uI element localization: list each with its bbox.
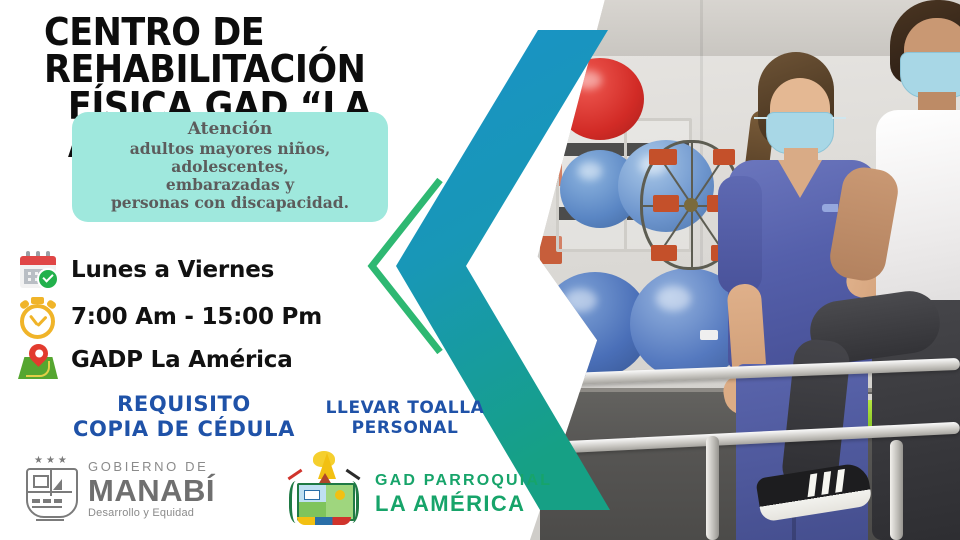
title-line-1: CENTRO DE REHABILITACIÓN [44, 10, 365, 91]
gad-parroquial-la-america-logo: GAD PARROQUIAL LA AMÉRICA [285, 455, 552, 533]
towel-line-2: PERSONAL [310, 418, 500, 438]
gad-logo-text: GAD PARROQUIAL LA AMÉRICA [375, 472, 552, 515]
info-label-days: Lunes a Viernes [71, 257, 274, 283]
wheel-pad [651, 245, 677, 261]
exercise-ball-red [556, 58, 644, 140]
audience-line-4: embarazadas y [82, 176, 378, 194]
parallel-bar-post [890, 440, 903, 540]
parallel-bar-post [706, 436, 719, 540]
manabi-line-3: Desarrollo y Equidad [88, 508, 215, 519]
gobierno-de-manabi-logo: ★★★ GOBIERNO DE MANABÍ Desarrollo y Equi… [22, 455, 215, 523]
audience-line-5: personas con discapacidad. [82, 194, 378, 212]
calendar-check-icon [16, 248, 60, 292]
manabi-logo-text: GOBIERNO DE MANABÍ Desarrollo y Equidad [88, 460, 215, 519]
wheel-hub [684, 198, 698, 212]
towel-line-1: LLEVAR TOALLA [310, 398, 500, 418]
audience-line-2: adultos mayores niños, [82, 140, 378, 158]
info-row-days: Lunes a Viernes [16, 248, 274, 292]
info-label-hours: 7:00 Am - 15:00 Pm [71, 304, 322, 330]
requirement-line-1: REQUISITO [64, 392, 304, 417]
info-label-location: GADP La América [71, 347, 293, 373]
wheel-pad [653, 195, 679, 212]
stopwatch-icon [16, 295, 60, 339]
wheel-pad [649, 149, 677, 165]
sneaker-stripe [821, 471, 831, 495]
la-america-crest-icon [285, 455, 363, 533]
info-row-location: GADP La América [16, 338, 293, 382]
sneaker-stripe [808, 473, 818, 497]
manabi-line-2: MANABÍ [88, 475, 215, 506]
therapist-sleeve-left [718, 176, 762, 294]
requirement-line-2: COPIA DE CÉDULA [64, 417, 304, 442]
audience-line-3: adolescentes, [82, 158, 378, 176]
gad-line-2: LA AMÉRICA [375, 492, 552, 516]
map-pin-icon [16, 338, 60, 382]
poster-canvas: CENTRO DE REHABILITACIÓN FÍSICA GAD “LA … [0, 0, 960, 540]
requirement-towel-note: LLEVAR TOALLA PERSONAL [310, 398, 500, 438]
sneaker-stripe [835, 469, 845, 493]
info-row-hours: 7:00 Am - 15:00 Pm [16, 295, 322, 339]
wall-outlet [700, 330, 718, 340]
manabi-shield-icon: ★★★ [22, 455, 78, 523]
audience-line-1: Atención [82, 120, 378, 140]
audience-callout-box: Atención adultos mayores niños, adolesce… [72, 112, 388, 222]
gad-line-1: GAD PARROQUIAL [375, 472, 552, 489]
manabi-line-1: GOBIERNO DE [88, 460, 215, 473]
requirement-document-note: REQUISITO COPIA DE CÉDULA [64, 392, 304, 442]
